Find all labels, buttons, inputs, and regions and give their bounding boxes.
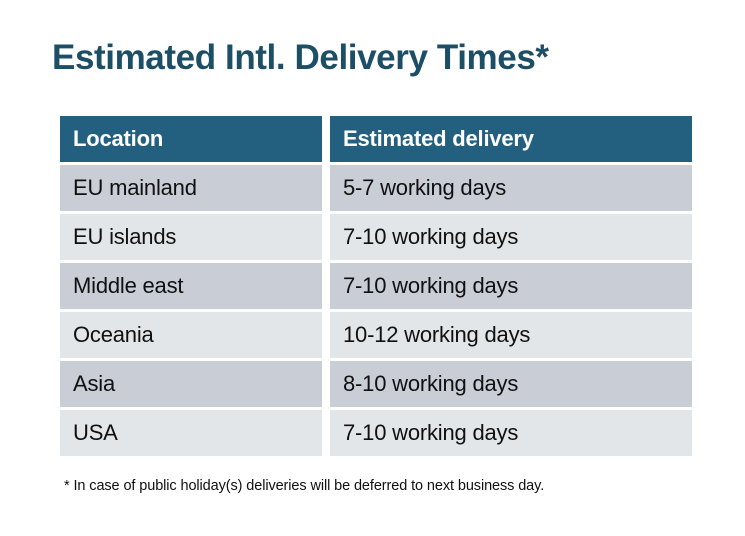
table-row: EU islands 7-10 working days: [60, 214, 692, 260]
table-header: Location Estimated delivery: [60, 116, 692, 162]
cell-location: Middle east: [60, 263, 322, 309]
page-title: Estimated Intl. Delivery Times*: [52, 36, 549, 80]
table-footnote: * In case of public holiday(s) deliverie…: [64, 478, 544, 494]
delivery-times-page: Estimated Intl. Delivery Times* Location…: [0, 0, 745, 536]
table-row: USA 7-10 working days: [60, 410, 692, 456]
cell-location: EU mainland: [60, 165, 322, 211]
cell-location: Oceania: [60, 312, 322, 358]
cell-delivery: 7-10 working days: [330, 263, 692, 309]
cell-location: EU islands: [60, 214, 322, 260]
cell-delivery: 5-7 working days: [330, 165, 692, 211]
table-header-row: Location Estimated delivery: [60, 116, 692, 162]
delivery-times-table: Location Estimated delivery EU mainland …: [52, 113, 700, 459]
table-row: Asia 8-10 working days: [60, 361, 692, 407]
cell-delivery: 7-10 working days: [330, 214, 692, 260]
cell-location: Asia: [60, 361, 322, 407]
cell-delivery: 8-10 working days: [330, 361, 692, 407]
cell-delivery: 7-10 working days: [330, 410, 692, 456]
table-row: EU mainland 5-7 working days: [60, 165, 692, 211]
column-header-location: Location: [60, 116, 322, 162]
cell-delivery: 10-12 working days: [330, 312, 692, 358]
cell-location: USA: [60, 410, 322, 456]
table-body: EU mainland 5-7 working days EU islands …: [60, 165, 692, 456]
table-row: Oceania 10-12 working days: [60, 312, 692, 358]
table-row: Middle east 7-10 working days: [60, 263, 692, 309]
column-header-estimated-delivery: Estimated delivery: [330, 116, 692, 162]
